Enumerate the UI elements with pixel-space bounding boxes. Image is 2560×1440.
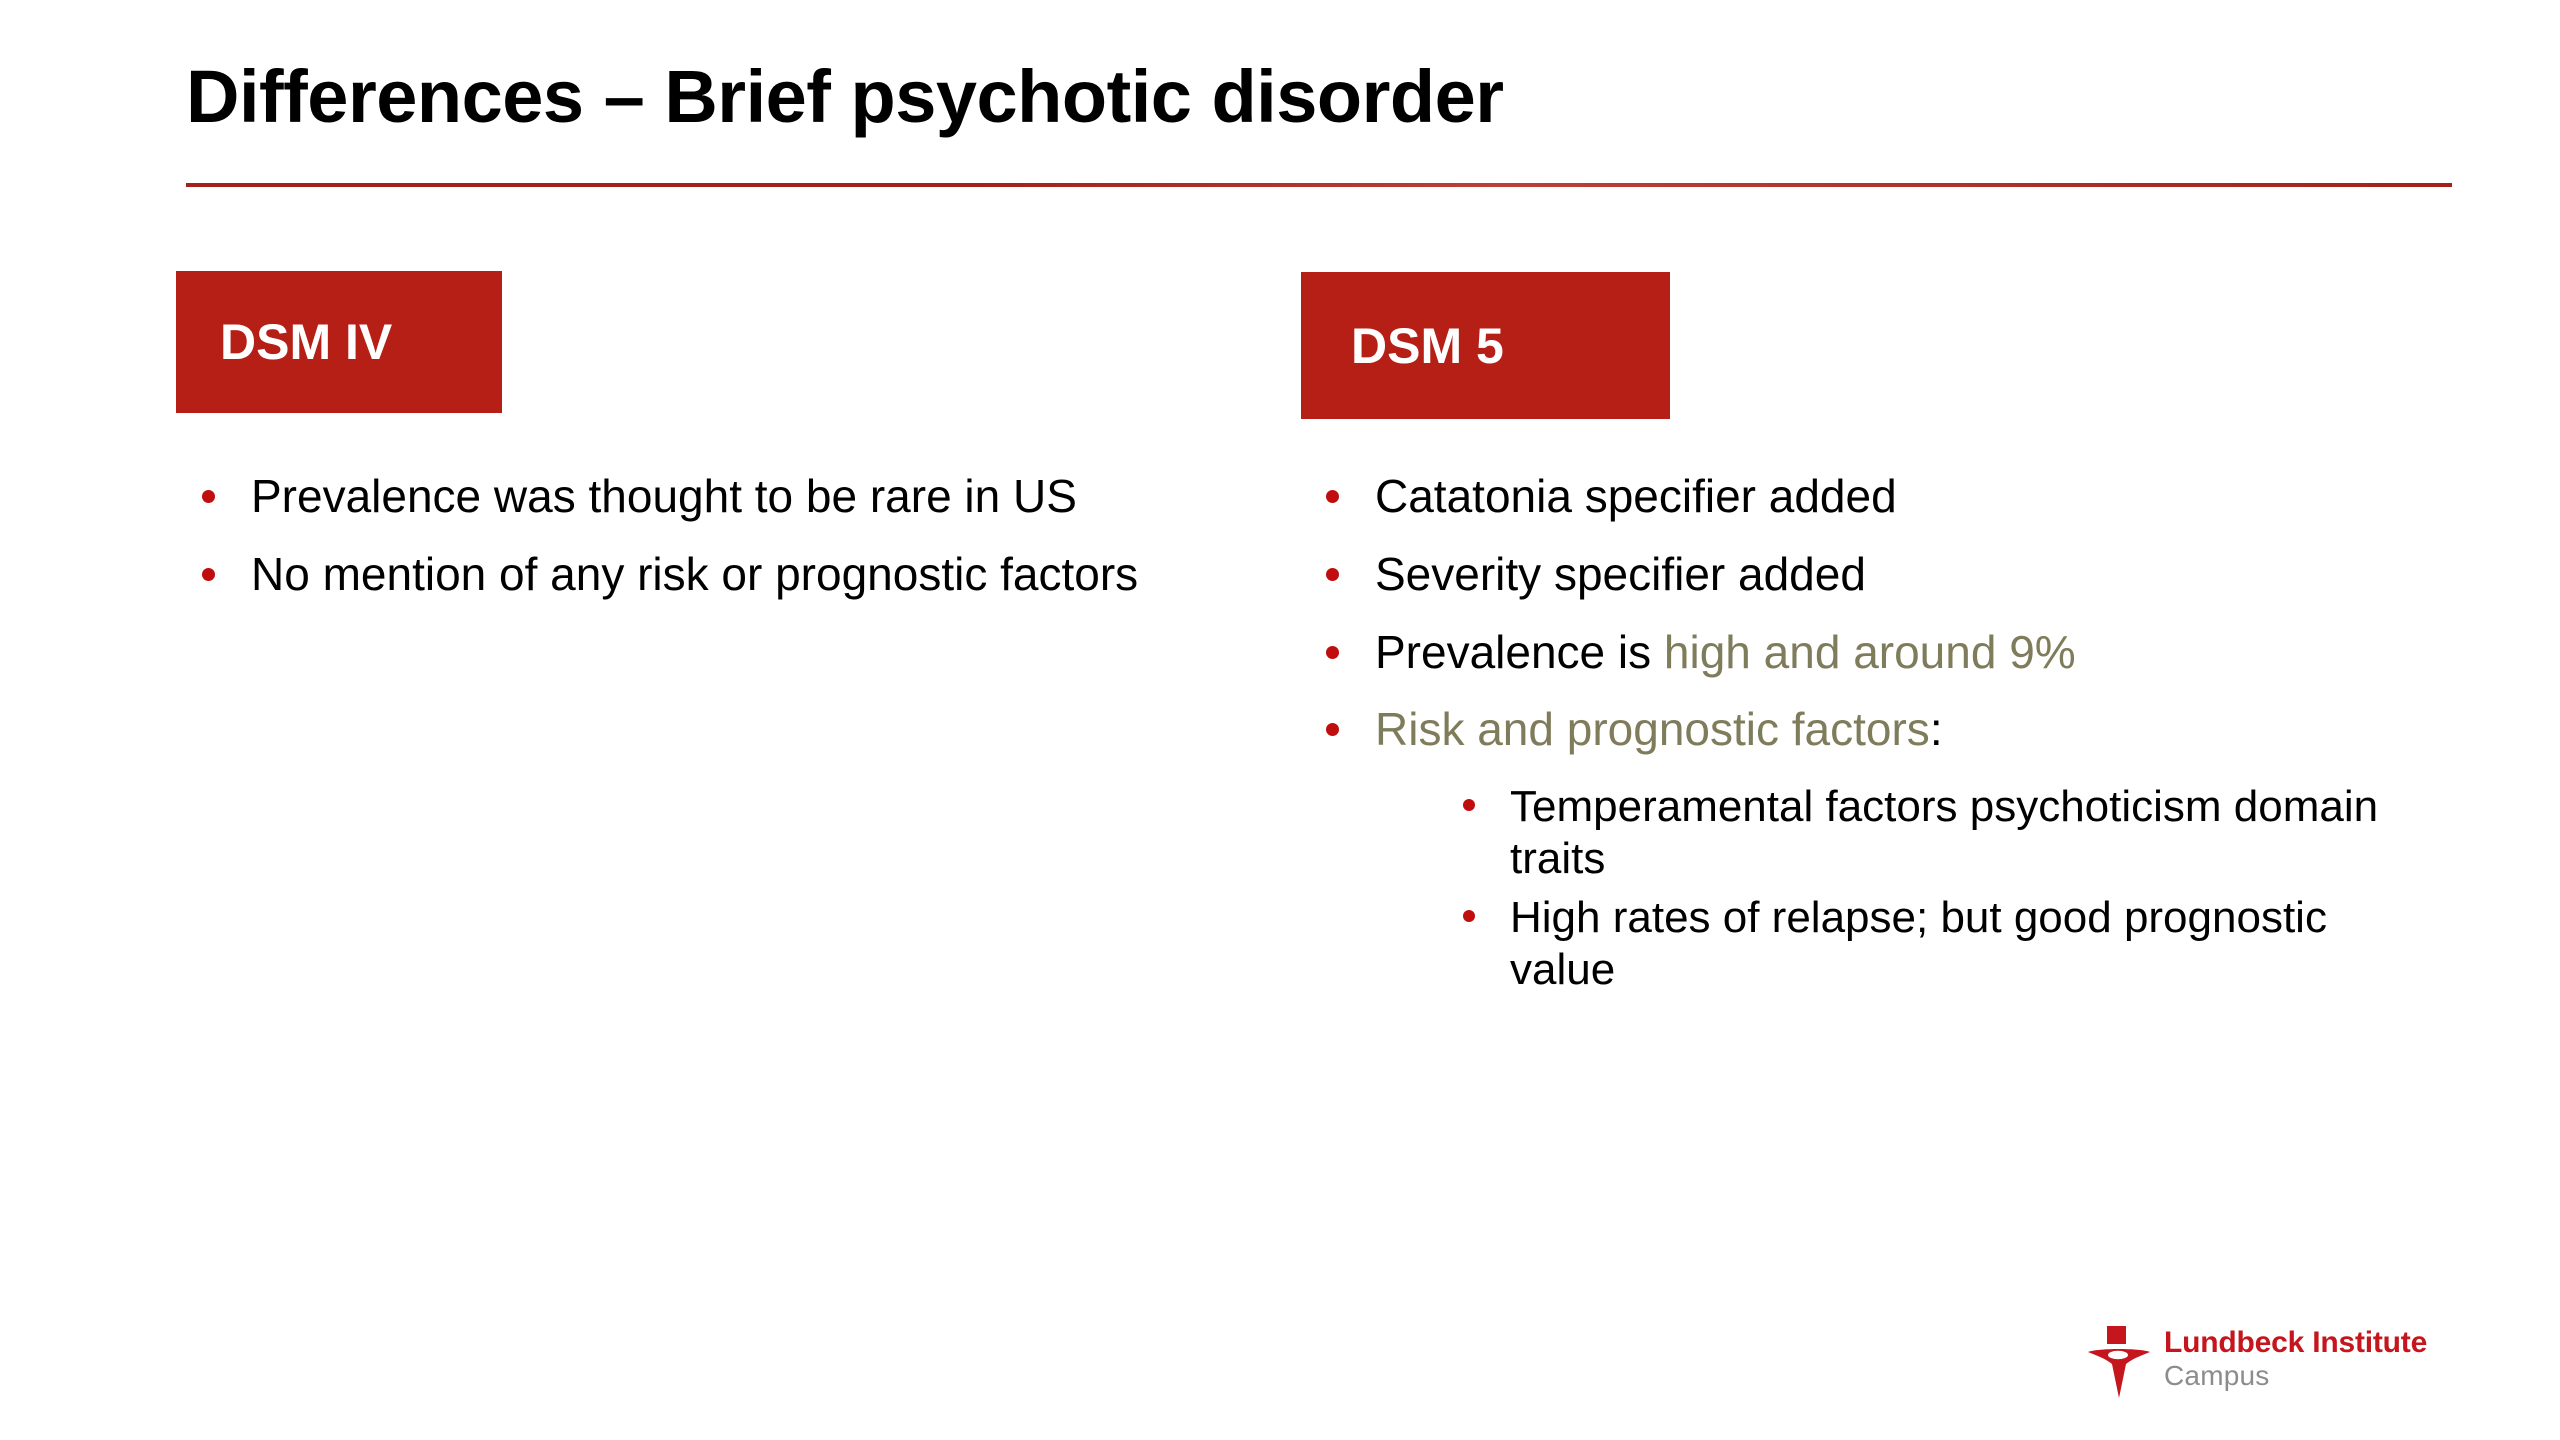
bullet-list-dsm5: Catatonia specifier added Severity speci…: [1300, 470, 2400, 1003]
list-item-lead-text: Prevalence is: [1375, 626, 1664, 678]
title-underline-rule: [186, 183, 2452, 187]
logo-wordmark: Lundbeck Institute Campus: [2164, 1326, 2424, 1391]
list-item: Severity specifier added: [1300, 548, 2400, 602]
lundbeck-funnel-icon: [2088, 1326, 2150, 1398]
list-item: Catatonia specifier added: [1300, 470, 2400, 524]
list-item: Prevalence is high and around 9%: [1300, 626, 2400, 680]
lundbeck-institute-logo: Lundbeck Institute Campus: [2088, 1326, 2418, 1404]
logo-subname: Campus: [2164, 1360, 2424, 1391]
sub-bullet-list: Temperamental factors psychoticism domai…: [1300, 781, 2400, 995]
page-title: Differences – Brief psychotic disorder: [186, 58, 2466, 136]
logo-name: Lundbeck Institute: [2164, 1326, 2424, 1360]
list-item-highlight-text: high and around 9%: [1664, 626, 2076, 678]
bullet-list-dsm4: Prevalence was thought to be rare in US …: [176, 470, 1251, 626]
sub-list-item: High rates of relapse; but good prognost…: [1435, 892, 2400, 995]
list-item: Risk and prognostic factors:: [1300, 703, 2400, 757]
column-header-dsm4-label: DSM IV: [220, 317, 392, 367]
list-item-trail-text: :: [1930, 703, 1943, 755]
list-item: Prevalence was thought to be rare in US: [176, 470, 1251, 524]
slide-canvas: Differences – Brief psychotic disorder D…: [0, 0, 2560, 1440]
column-header-dsm5: DSM 5: [1301, 272, 1670, 419]
list-item: No mention of any risk or prognostic fac…: [176, 548, 1251, 602]
column-header-dsm5-label: DSM 5: [1351, 321, 1504, 371]
sub-list-item: Temperamental factors psychoticism domai…: [1435, 781, 2400, 884]
list-item-highlight-text: Risk and prognostic factors: [1375, 703, 1930, 755]
column-header-dsm4: DSM IV: [176, 271, 502, 413]
